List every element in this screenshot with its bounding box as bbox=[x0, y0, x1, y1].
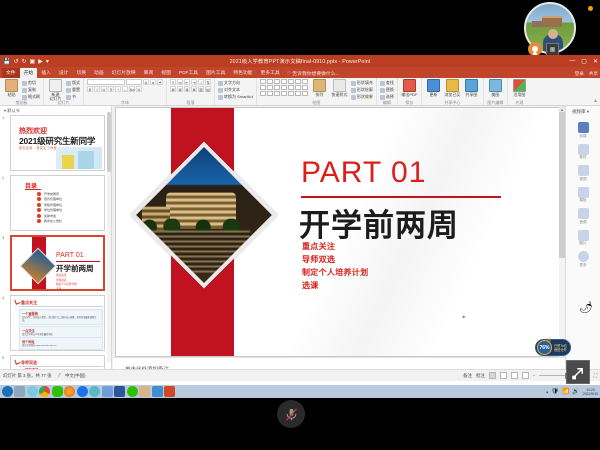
slide3-bullet: 选课 bbox=[56, 287, 77, 291]
copy-label: 复制 bbox=[28, 87, 36, 93]
shape-rect-icon[interactable] bbox=[260, 79, 266, 84]
slide-bullet-list[interactable]: 重点关注 导师双选 制定个人培养计划 选课 bbox=[302, 241, 368, 291]
video-icon bbox=[578, 165, 589, 176]
new-slide-button[interactable]: 新建幻灯片 bbox=[47, 79, 64, 101]
thumbnail-slide-3[interactable]: 3 PART 01 开学前两周 重点关注 导师双选 制定个人培养计划 选课 bbox=[10, 235, 105, 291]
remote-desktop-icon[interactable] bbox=[102, 386, 113, 397]
ribbon-group-drawing: 排列 快速样式 形状填充 形状轮廓 形状效果 绘图 bbox=[257, 78, 377, 105]
slide3-diamond-photo bbox=[20, 248, 57, 285]
tab-review[interactable]: 审阅 bbox=[140, 68, 158, 78]
tell-me-label: 告诉我你想要做什么... bbox=[292, 72, 339, 77]
section-header[interactable]: ▾ 默认节 bbox=[0, 106, 111, 115]
slide5-accent-mark bbox=[14, 358, 20, 364]
shape-brace-icon[interactable] bbox=[281, 91, 287, 96]
material-icon bbox=[578, 144, 589, 155]
notes-toggle-button[interactable]: 备注 bbox=[463, 373, 472, 379]
layout-label: 版式 bbox=[72, 80, 80, 86]
share-chart-label: 共享图 bbox=[465, 93, 477, 97]
slideshow-view-button[interactable] bbox=[522, 372, 529, 379]
replace-icon bbox=[380, 88, 385, 93]
slide-canvas-area[interactable]: PART 01 开学前两周 重点关注 导师双选 制定个人培养计划 选课 ▴ ▾ bbox=[113, 106, 565, 357]
cut-icon bbox=[22, 81, 27, 86]
more-icon bbox=[578, 251, 589, 262]
slide-part-label[interactable]: PART 01 bbox=[301, 156, 426, 190]
ribbon-group-paragraph: ≡ ≔ ⇤ ⇥ ↕ ⇅ ≣ ≣ ≣ ≣ ▥ ▤ bbox=[167, 78, 215, 105]
bullets-icon[interactable]: ≡ bbox=[170, 79, 176, 85]
toc-bullet-icon bbox=[37, 214, 41, 218]
slide1-graphic bbox=[56, 147, 102, 169]
qq-icon[interactable] bbox=[127, 386, 138, 397]
shape-misc-icon[interactable] bbox=[295, 91, 301, 96]
wechat-icon[interactable] bbox=[52, 386, 63, 397]
slide3-rule bbox=[56, 261, 100, 262]
find-button[interactable]: 查找 bbox=[380, 80, 394, 86]
reset-button[interactable]: 重置 bbox=[66, 87, 80, 93]
taskbar-clock[interactable]: 10:29 2021/9/10 bbox=[583, 388, 598, 396]
right-tool-panel[interactable]: 视频库 ▾ 创建 素材 视频 模板 bbox=[565, 106, 600, 369]
reset-label: 重置 bbox=[72, 87, 80, 93]
language-label[interactable]: 中文(中国) bbox=[65, 373, 86, 379]
slide-title[interactable]: 开学前两周 bbox=[299, 200, 459, 245]
group-title-appearance: 外观 bbox=[511, 100, 528, 105]
shrink-font-icon[interactable]: a bbox=[150, 79, 156, 85]
align-text-label: 对齐文本 bbox=[224, 87, 240, 93]
tab-home[interactable]: 开始 bbox=[20, 68, 38, 78]
toc-bullet-icon bbox=[37, 208, 41, 212]
collapse-ribbon-icon[interactable]: ▲ bbox=[593, 98, 598, 104]
screen-recording: ▦ 💾 ↺ ↻ ▣ ▶ ▾ 2021级入学教育PPT演示文稿final-0910… bbox=[0, 0, 600, 450]
pdf-icon bbox=[403, 79, 416, 92]
theme-label: 活用图 bbox=[513, 93, 525, 97]
export-pdf-label: 输出PDF bbox=[401, 93, 417, 97]
tab-animations[interactable]: 动画 bbox=[90, 68, 108, 78]
reading-view-button[interactable] bbox=[511, 372, 518, 379]
toc-bullet-icon bbox=[37, 219, 41, 223]
reset-icon bbox=[66, 88, 71, 93]
find-label: 查找 bbox=[386, 80, 394, 86]
right-panel-item-label: 创建 bbox=[579, 134, 586, 139]
firefox-icon[interactable] bbox=[64, 386, 75, 397]
quick-styles-icon bbox=[333, 79, 346, 92]
strikethrough-icon[interactable]: S bbox=[108, 86, 114, 92]
tab-design[interactable]: 设计 bbox=[55, 68, 73, 78]
browse-purchased-label: 浏览已买 bbox=[444, 93, 460, 97]
thumbnail-slide-5[interactable]: 5 导师双选 双向选择 bbox=[10, 355, 105, 369]
grow-font-icon[interactable]: A bbox=[143, 79, 149, 85]
badge-text: 已赞Ta位 他是分外 bbox=[554, 344, 567, 352]
mouse-cursor bbox=[462, 306, 467, 313]
ribbon-group-paragraph-extras: 文字方向 对齐文本 转换为 SmartArt bbox=[215, 78, 257, 105]
image-icon bbox=[578, 230, 589, 241]
font-name-input[interactable] bbox=[87, 79, 125, 85]
slide4-card-title: 一个重要群 bbox=[20, 310, 102, 317]
right-panel-item-label: 更多 bbox=[579, 263, 586, 268]
update-label: 更新 bbox=[429, 93, 437, 97]
normal-view-button[interactable] bbox=[489, 372, 496, 379]
slide3-bullet: 导师双选 bbox=[56, 278, 77, 282]
cut-button[interactable]: 剪切 bbox=[22, 80, 40, 86]
update-button[interactable]: 更新 bbox=[425, 79, 442, 97]
change-case-icon[interactable]: Aa bbox=[129, 86, 135, 92]
slide-divider-rule bbox=[301, 196, 501, 199]
paste-button[interactable]: 粘贴 bbox=[3, 79, 20, 97]
arrange-label: 排列 bbox=[315, 93, 323, 97]
shape-oval-icon[interactable] bbox=[302, 79, 308, 84]
shape-banner-icon[interactable] bbox=[288, 85, 294, 90]
group-title-clipboard: 剪贴板 bbox=[3, 100, 40, 105]
thumbnail-scroll-thumb[interactable] bbox=[107, 112, 111, 172]
thumbnail-number: 5 bbox=[2, 355, 4, 360]
shape-fill-label: 形状填充 bbox=[357, 80, 373, 86]
right-panel-item-template[interactable]: 模板 bbox=[566, 187, 600, 204]
font-color-icon[interactable]: A bbox=[136, 86, 142, 92]
shape-scribble-icon[interactable] bbox=[267, 91, 273, 96]
right-panel-item-material[interactable]: 素材 bbox=[566, 144, 600, 161]
share-chart-icon bbox=[465, 79, 478, 92]
shadow-icon[interactable]: ◔ bbox=[115, 86, 121, 92]
paste-icon bbox=[5, 79, 18, 92]
text-direction-button[interactable]: 文字方向 bbox=[218, 80, 253, 86]
ribbon-group-editing: 查找 替换 选择 编辑 bbox=[377, 78, 398, 105]
clear-format-icon[interactable]: ✦ bbox=[157, 79, 163, 85]
right-panel-item-video[interactable]: 视频 bbox=[566, 165, 600, 182]
right-panel-header[interactable]: 视频库 ▾ bbox=[566, 106, 600, 117]
columns-icon[interactable]: ▥ bbox=[198, 86, 204, 92]
slide3-part-label: PART 01 bbox=[56, 252, 84, 259]
group-title-picture-edit: 图片编辑 bbox=[487, 100, 504, 105]
paste-label: 粘贴 bbox=[8, 93, 16, 97]
group-title-slides: 幻灯片 bbox=[47, 100, 80, 105]
minimize-icon[interactable]: — bbox=[569, 58, 575, 65]
section-icon bbox=[66, 95, 71, 100]
browse-purchased-button[interactable]: 浏览已买 bbox=[444, 79, 461, 97]
replace-label: 替换 bbox=[386, 87, 394, 93]
toc-item: 培养管理单位 bbox=[44, 197, 62, 201]
word-icon[interactable] bbox=[114, 386, 125, 397]
shape-fill-icon bbox=[351, 81, 356, 86]
text-direction-label: 文字方向 bbox=[224, 80, 240, 86]
justify-icon[interactable]: ≣ bbox=[191, 86, 197, 92]
shape-flow-icon[interactable] bbox=[288, 91, 294, 96]
clock-date: 2021/9/10 bbox=[583, 392, 598, 396]
shape-star-icon[interactable] bbox=[281, 85, 287, 90]
tab-insert[interactable]: 插入 bbox=[37, 68, 55, 78]
group-title-editing: 编辑 bbox=[380, 100, 394, 105]
align-center-icon[interactable]: ≣ bbox=[177, 86, 183, 92]
group-title-font: 字体 bbox=[87, 100, 163, 105]
audio-icon bbox=[578, 208, 589, 219]
align-left-icon[interactable]: ≣ bbox=[170, 86, 176, 92]
webcam-building bbox=[542, 16, 562, 27]
tell-me-box[interactable]: ♡ 告诉我你想要做什么... bbox=[284, 69, 343, 78]
shape-freeform-icon[interactable] bbox=[260, 91, 266, 96]
shape-pentagon-icon[interactable] bbox=[267, 85, 273, 90]
theme-button[interactable]: 活用图 bbox=[511, 79, 528, 97]
tab-transitions[interactable]: 切换 bbox=[72, 68, 90, 78]
mic-muted-icon bbox=[284, 407, 299, 422]
quick-styles-button[interactable]: 快速样式 bbox=[331, 79, 348, 97]
teams-icon[interactable] bbox=[89, 386, 100, 397]
thumbnail-slide-4[interactable]: 4 重点关注 一个重要群 各位同学，欢迎加入我们，请扫描下方二维码加入群聊，及时… bbox=[10, 295, 105, 351]
slide4-card-text: 各位同学，欢迎加入我们，请扫描下方二维码加入群聊，及时获取最新通知信息。 bbox=[20, 317, 102, 324]
slide4-card: 一个重要群 各位同学，欢迎加入我们，请扫描下方二维码加入群聊，及时获取最新通知信… bbox=[19, 309, 103, 325]
group-title-share-center: 共享中心 bbox=[425, 100, 480, 105]
shape-arrow-icon[interactable] bbox=[274, 79, 280, 84]
tab-picture-tools[interactable]: 图片工具 bbox=[202, 68, 229, 78]
comments-toggle-button[interactable]: 批注 bbox=[476, 373, 485, 379]
slide1-subtitle: 研究生院 · 研究生工作部 bbox=[19, 146, 57, 150]
tab-slideshow[interactable]: 幻灯片放映 bbox=[108, 68, 140, 78]
font-size-input[interactable] bbox=[126, 79, 142, 85]
slide4-card: 用个网址 研究生院网站 www.example.edu.cn bbox=[19, 337, 103, 350]
system-tray[interactable]: ▴ 🛡 📶 🔊 10:29 2021/9/10 bbox=[546, 388, 598, 396]
increase-indent-icon[interactable]: ⇥ bbox=[191, 79, 197, 85]
shape-triangle-icon[interactable] bbox=[260, 85, 266, 90]
export-pdf-button[interactable]: 输出PDF bbox=[401, 79, 418, 97]
fit-to-window-button[interactable]: ⛶ bbox=[594, 373, 597, 378]
align-text-button[interactable]: 对齐文本 bbox=[218, 87, 253, 93]
toc-bullet-icon bbox=[37, 197, 41, 201]
numbering-icon[interactable]: ≔ bbox=[177, 79, 183, 85]
chili-pepper-icon[interactable]: 🌶 bbox=[579, 302, 592, 315]
shape-outline-icon bbox=[351, 88, 356, 93]
toc-item: 奖助学金 bbox=[44, 214, 56, 218]
decrease-indent-icon[interactable]: ⇤ bbox=[184, 79, 190, 85]
slide-bullet-1: 重点关注 bbox=[302, 241, 368, 252]
right-panel-item-more[interactable]: 更多 bbox=[566, 251, 600, 268]
slide-count-label: 幻灯片 第 3 张，共 77 张 bbox=[3, 373, 52, 379]
thumbnail-number: 4 bbox=[2, 295, 4, 300]
underline-icon[interactable]: U bbox=[101, 86, 107, 92]
cut-label: 剪切 bbox=[28, 80, 36, 86]
char-spacing-icon[interactable]: ↔ bbox=[122, 86, 128, 92]
thumbnail-scrollbar[interactable] bbox=[107, 112, 111, 362]
ribbon-group-share-center: 更新 浏览已买 共享图 共享中心 bbox=[422, 78, 484, 105]
zoom-out-button[interactable]: − bbox=[533, 373, 536, 378]
status-bar[interactable]: 幻灯片 第 3 张，共 77 张 📝 中文(中国) 备注 批注 − + ⛶ bbox=[0, 369, 600, 381]
notes-pane[interactable]: 单击此处添加备注 bbox=[113, 357, 565, 369]
toc-item: 学位管理单位 bbox=[44, 208, 62, 212]
group-title-paragraph-extras bbox=[218, 100, 253, 105]
ribbon-group-picture-edit: 美图 图片编辑 bbox=[484, 78, 508, 105]
task-view-icon[interactable] bbox=[14, 386, 25, 397]
tab-file[interactable]: 文件 bbox=[2, 68, 20, 78]
replace-button[interactable]: 替换 bbox=[380, 87, 394, 93]
tray-volume-icon[interactable]: 🔊 bbox=[572, 388, 579, 395]
shape-outline-button[interactable]: 形状轮廓 bbox=[351, 87, 373, 93]
tray-antivirus-icon[interactable]: 🛡 bbox=[551, 388, 559, 395]
section-header-label: 默认节 bbox=[7, 108, 20, 113]
right-panel-item-label: 图片 bbox=[579, 241, 586, 246]
safari-icon[interactable] bbox=[77, 386, 88, 397]
copy-icon bbox=[22, 88, 27, 93]
template-icon bbox=[578, 187, 589, 198]
align-text-icon[interactable]: ▤ bbox=[205, 86, 211, 92]
thumbnail-slide-2[interactable]: 2 目录 开学前两周 培养管理单位 学籍管理单位 学位管理单位 奖助学金 教务处… bbox=[10, 175, 105, 231]
chevron-down-icon[interactable]: ▾ bbox=[587, 109, 589, 114]
webcam-person-head bbox=[548, 29, 558, 39]
shape-bracket-icon[interactable] bbox=[274, 91, 280, 96]
thumbnail-number: 1 bbox=[2, 115, 4, 120]
select-icon bbox=[380, 95, 385, 100]
theme-icon bbox=[513, 79, 526, 92]
ribbon-group-slides: 新建幻灯片 版式 重置 节 幻灯片 bbox=[44, 78, 84, 105]
quick-styles-label: 快速样式 bbox=[331, 93, 347, 97]
ribbon[interactable]: 粘贴 剪切 复制 格式刷 剪贴板 新建幻灯片 bbox=[0, 78, 600, 106]
shape-connector-icon[interactable] bbox=[281, 79, 287, 84]
align-text-icon-2 bbox=[218, 88, 223, 93]
shape-line-icon[interactable] bbox=[267, 79, 273, 84]
right-panel-item-label: 模板 bbox=[579, 198, 586, 203]
badge-line-2: 他是分外 bbox=[554, 348, 567, 352]
shape-gallery[interactable] bbox=[260, 79, 308, 96]
group-title-save: 保存 bbox=[401, 100, 418, 105]
slide-bullet-4: 选课 bbox=[302, 280, 368, 291]
shape-more-icon[interactable] bbox=[302, 91, 308, 96]
toc-item: 开学前两周 bbox=[44, 192, 59, 196]
workspace: ▾ 默认节 1 热烈欢迎 2021级研究生新同学 研究生院 · 研究生工作部 2 bbox=[0, 106, 600, 369]
new-slide-icon bbox=[49, 79, 62, 92]
slide3-bullet: 制定个人培养计划 bbox=[56, 282, 77, 286]
window-title: 2021级入学教育PPT演示文稿final-0910.pptx - PowerP… bbox=[0, 57, 600, 65]
slide4-card-title: 用个网址 bbox=[20, 338, 102, 345]
layout-icon bbox=[66, 81, 71, 86]
window-controls[interactable]: — ▢ ✕ bbox=[569, 58, 598, 65]
windows-start-icon[interactable] bbox=[2, 386, 13, 397]
sign-in-button[interactable]: 登录 bbox=[575, 71, 584, 77]
right-panel-item-label: 素材 bbox=[579, 155, 586, 160]
shape-callout-icon[interactable] bbox=[295, 85, 301, 90]
slide2-toc: 开学前两周 培养管理单位 学籍管理单位 学位管理单位 奖助学金 教务处公告栏 bbox=[37, 192, 62, 223]
slide-bullet-2: 导师双选 bbox=[302, 254, 368, 265]
edge-icon[interactable] bbox=[27, 386, 38, 397]
tab-bar-right[interactable]: 登录 共享 bbox=[575, 71, 598, 77]
italic-icon[interactable]: I bbox=[94, 86, 100, 92]
thumbnail-number: 3 bbox=[2, 235, 4, 240]
shape-hexagon-icon[interactable] bbox=[274, 85, 280, 90]
beautify-image-button[interactable]: 美图 bbox=[487, 79, 504, 97]
thumbnail-number: 2 bbox=[2, 175, 4, 180]
shape-outline-label: 形状轮廓 bbox=[357, 87, 373, 93]
slide4-card-title: 一点关注 bbox=[20, 327, 102, 334]
ribbon-group-clipboard: 粘贴 剪切 复制 格式刷 剪贴板 bbox=[0, 78, 44, 105]
right-panel-item-audio[interactable]: 音频 bbox=[566, 208, 600, 225]
toc-bullet-icon bbox=[37, 203, 41, 207]
right-panel-item-label: 视频 bbox=[579, 177, 586, 182]
mic-mute-button[interactable] bbox=[277, 400, 305, 428]
slide-sorter-view-button[interactable] bbox=[500, 372, 507, 379]
powerpoint-icon[interactable] bbox=[164, 386, 175, 397]
arrange-icon bbox=[313, 79, 326, 92]
group-title-paragraph: 段落 bbox=[170, 100, 211, 105]
create-icon bbox=[578, 122, 589, 133]
line-spacing-icon[interactable]: ↕ bbox=[198, 79, 204, 85]
text-direction-icon[interactable]: ⇅ bbox=[205, 79, 211, 85]
toc-item: 学籍管理单位 bbox=[44, 203, 62, 207]
ribbon-group-save: 输出PDF 保存 bbox=[398, 78, 422, 105]
crown-icon: ♕ bbox=[546, 336, 552, 344]
bold-icon[interactable]: B bbox=[87, 86, 93, 92]
right-panel-title: 视频库 bbox=[572, 109, 586, 114]
align-right-icon[interactable]: ≣ bbox=[184, 86, 190, 92]
webcam-building-secondary bbox=[532, 21, 542, 27]
slide4-card-text: 研究生院网站 www.example.edu.cn bbox=[20, 345, 102, 349]
tray-network-icon[interactable]: 📶 bbox=[562, 388, 569, 395]
smartart-icon bbox=[218, 95, 223, 100]
current-slide[interactable]: PART 01 开学前两周 重点关注 导师双选 制定个人培养计划 选课 bbox=[116, 108, 562, 356]
update-icon bbox=[427, 79, 440, 92]
restore-icon[interactable]: ▢ bbox=[581, 58, 587, 65]
shape-fill-button[interactable]: 形状填充 bbox=[351, 80, 373, 86]
tray-chevron-icon[interactable]: ▴ bbox=[546, 389, 548, 394]
toc-item: 教务处公告栏 bbox=[44, 219, 62, 223]
browse-purchased-icon bbox=[446, 79, 459, 92]
slide3-bullet: 重点关注 bbox=[56, 273, 77, 277]
screenshot-arrow-icon bbox=[571, 365, 586, 380]
ribbon-group-font: A a ✦ B I U S ◔ ↔ Aa A 字体 bbox=[84, 78, 167, 105]
slide3-bullets: 重点关注 导师双选 制定个人培养计划 选课 bbox=[56, 273, 77, 291]
tab-more-tools[interactable]: 更多工具 bbox=[256, 68, 283, 78]
group-title-drawing: 绘图 bbox=[260, 100, 373, 105]
chrome-icon[interactable] bbox=[39, 386, 50, 397]
share-chart-button[interactable]: 共享图 bbox=[463, 79, 480, 97]
avatar-icon[interactable] bbox=[528, 42, 542, 56]
title-bar: 💾 ↺ ↻ ▣ ▶ ▾ 2021级入学教育PPT演示文稿final-0910.p… bbox=[0, 55, 600, 67]
search-icon bbox=[380, 81, 385, 86]
right-panel-item-create[interactable]: 创建 bbox=[566, 122, 600, 139]
share-button[interactable]: 共享 bbox=[589, 71, 598, 77]
layout-button[interactable]: 版式 bbox=[66, 80, 80, 86]
shape-curve-icon[interactable] bbox=[302, 85, 308, 90]
ribbon-tab-bar[interactable]: 文件 开始 插入 设计 切换 动画 幻灯片放映 审阅 视图 PDF工具 图片工具… bbox=[0, 67, 600, 78]
status-bar-left: 幻灯片 第 3 张，共 77 张 📝 中文(中国) bbox=[0, 373, 86, 379]
tab-view[interactable]: 视图 bbox=[157, 68, 175, 78]
grid-layout-icon[interactable]: ▦ bbox=[546, 43, 559, 56]
copy-button[interactable]: 复制 bbox=[22, 87, 40, 93]
chevron-down-icon[interactable]: ▾ bbox=[4, 108, 6, 113]
lightbulb-icon: ♡ bbox=[287, 72, 291, 77]
shape-rounded-icon[interactable] bbox=[295, 79, 301, 84]
tab-pdf-tools[interactable]: PDF工具 bbox=[175, 68, 202, 78]
beautify-image-icon bbox=[489, 79, 502, 92]
tab-features[interactable]: 特色功能 bbox=[229, 68, 256, 78]
slide-bullet-3: 制定个人培养计划 bbox=[302, 267, 368, 278]
thumbnail-slide-1[interactable]: 1 热烈欢迎 2021级研究生新同学 研究生院 · 研究生工作部 bbox=[10, 115, 105, 171]
toc-bullet-icon bbox=[37, 192, 41, 196]
photos-icon[interactable] bbox=[152, 386, 163, 397]
arrange-button[interactable]: 排列 bbox=[311, 79, 328, 97]
shape-square-icon[interactable] bbox=[288, 79, 294, 84]
close-icon[interactable]: ✕ bbox=[593, 58, 598, 65]
beautify-image-label: 美图 bbox=[491, 93, 499, 97]
screenshot-tool-button[interactable] bbox=[566, 360, 590, 384]
right-panel-item-image[interactable]: 图片 bbox=[566, 230, 600, 247]
slide-thumbnail-pane[interactable]: ▾ 默认节 1 热烈欢迎 2021级研究生新同学 研究生院 · 研究生工作部 2 bbox=[0, 106, 112, 369]
status-light-icon bbox=[588, 6, 593, 11]
explorer-icon[interactable] bbox=[139, 386, 150, 397]
slide4-rule bbox=[19, 306, 103, 307]
slide2-underline bbox=[25, 189, 41, 190]
spellcheck-icon[interactable]: 📝 bbox=[56, 373, 61, 379]
right-panel-item-label: 音频 bbox=[579, 220, 586, 225]
format-painter-icon bbox=[22, 95, 27, 100]
reward-badge-widget[interactable]: ♕ 76% 已赞Ta位 他是分外 bbox=[535, 339, 571, 356]
text-direction-icon-2 bbox=[218, 81, 223, 86]
windows-taskbar[interactable]: ▴ 🛡 📶 🔊 10:29 2021/9/10 bbox=[0, 385, 600, 398]
shape-effects-icon bbox=[351, 95, 356, 100]
webcam-toolbar[interactable]: ▦ bbox=[528, 42, 559, 56]
powerpoint-window: 💾 ↺ ↻ ▣ ▶ ▾ 2021级入学教育PPT演示文稿final-0910.p… bbox=[0, 55, 600, 385]
